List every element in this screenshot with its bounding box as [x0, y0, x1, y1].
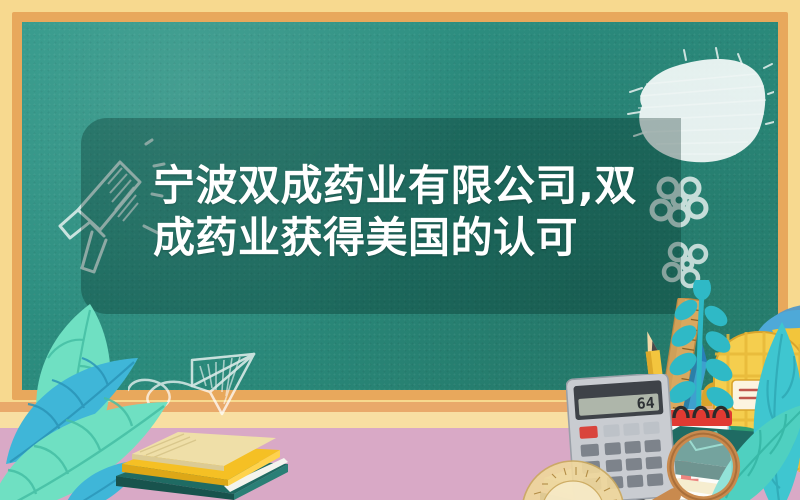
- page-title: 宁波双成药业有限公司,双 成药业获得美国的认可: [153, 160, 713, 264]
- book-icon: [112, 424, 292, 500]
- headline-line-1: 宁波双成药业有限公司,双: [153, 160, 713, 212]
- magnifier-icon: [646, 424, 742, 500]
- protractor-icon: [518, 450, 628, 500]
- banner-image: 宁波双成药业有限公司,双 成药业获得美国的认可: [0, 0, 800, 500]
- headline-line-2: 成药业获得美国的认可: [153, 212, 713, 264]
- calculator-display: 64: [636, 394, 655, 413]
